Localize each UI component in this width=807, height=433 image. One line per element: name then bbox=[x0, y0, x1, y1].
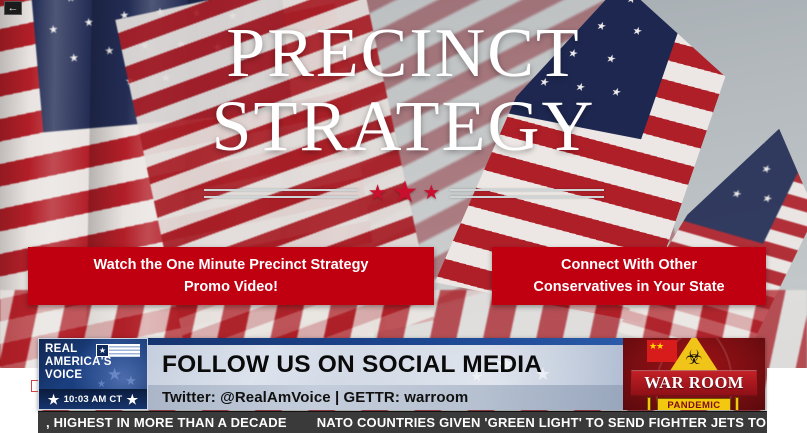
page-title: PRECINCT STRATEGY bbox=[0, 18, 807, 162]
watch-promo-video-button[interactable]: Watch the One Minute Precinct Strategy P… bbox=[28, 247, 434, 305]
badge-tick-right bbox=[735, 397, 739, 410]
cta-left-line-1: Watch the One Minute Precinct Strategy bbox=[93, 254, 368, 276]
badge-tick-left bbox=[647, 397, 651, 410]
ticker-item: NATO COUNTRIES GIVEN 'GREEN LIGHT' TO SE… bbox=[317, 415, 767, 430]
lower-third-banner: ★ ★ ★ REAL AMERICA'S VOICE ★ ★ 10:03 AM … bbox=[38, 338, 765, 410]
network-logo-top: ★ ★ ★ REAL AMERICA'S VOICE ★ bbox=[39, 339, 147, 389]
clock-bar: ★ 10:03 AM CT ★ bbox=[39, 389, 147, 409]
star-icon: ★ bbox=[391, 178, 418, 208]
star-icon: ★ bbox=[48, 393, 60, 406]
war-room-title: WAR ROOM bbox=[644, 373, 744, 393]
war-room-title-band: WAR ROOM bbox=[631, 370, 758, 396]
page-left-margin bbox=[0, 368, 38, 433]
headline-row: ★ ★ ★ FOLLOW US ON SOCIAL MEDIA bbox=[148, 345, 623, 385]
screenshot-root: ★ ★ ★ ★ ★ ★ ★ ★ ★ ★ ★ ★ ★ ★ ★ ★ ★ ★ ★ ★ bbox=[0, 0, 807, 433]
ghost-star-icon: ★ bbox=[125, 371, 137, 389]
war-room-pandemic-logo: ★★ ☣ WAR ROOM PANDEMIC bbox=[623, 338, 765, 410]
red-tab-marker bbox=[31, 380, 38, 392]
star-divider: ★ ★ ★ bbox=[204, 176, 604, 210]
social-handles-text: Twitter: @RealAmVoice | GETTR: warroom bbox=[162, 389, 468, 406]
cta-right-line-1: Connect With Other bbox=[561, 254, 697, 276]
divider-rule-right bbox=[450, 188, 604, 199]
star-icon: ★ bbox=[368, 182, 388, 204]
star-icon: ★ bbox=[422, 183, 440, 203]
headline-text: FOLLOW US ON SOCIAL MEDIA bbox=[162, 351, 542, 379]
flag-stripes bbox=[109, 344, 140, 357]
connect-with-conservatives-button[interactable]: Connect With Other Conservatives in Your… bbox=[492, 247, 766, 305]
lower-third-top-accent-bar bbox=[148, 338, 623, 345]
title-line-2: STRATEGY bbox=[0, 90, 807, 162]
subline-row: Twitter: @RealAmVoice | GETTR: warroom bbox=[148, 385, 623, 410]
pandemic-badge: PANDEMIC bbox=[657, 398, 731, 410]
clock-time: 10:03 AM CT bbox=[64, 394, 123, 405]
star-icon: ★ bbox=[126, 393, 138, 406]
news-ticker: , HIGHEST IN MORE THAN A DECADE NATO COU… bbox=[38, 411, 767, 433]
lower-third-text-panel: ★ ★ ★ FOLLOW US ON SOCIAL MEDIA Twitter:… bbox=[148, 338, 623, 410]
flag-canton-star-icon: ★ bbox=[96, 344, 109, 357]
brand-line-3: VOICE bbox=[45, 369, 112, 382]
divider-rule-left bbox=[204, 188, 358, 199]
page-right-margin bbox=[767, 368, 807, 433]
ticker-item: , HIGHEST IN MORE THAN A DECADE bbox=[46, 415, 287, 430]
cta-right-line-2: Conservatives in Your State bbox=[533, 276, 724, 298]
us-flag-icon: ★ bbox=[96, 344, 140, 357]
pandemic-badge-text: PANDEMIC bbox=[667, 400, 720, 410]
back-arrow-icon[interactable]: ← bbox=[4, 1, 22, 15]
network-logo: ★ ★ ★ REAL AMERICA'S VOICE ★ ★ 10:03 AM … bbox=[38, 338, 148, 410]
cta-left-line-2: Promo Video! bbox=[184, 276, 278, 298]
title-line-1: PRECINCT bbox=[0, 18, 807, 90]
biohazard-icon: ☣ bbox=[685, 348, 703, 368]
divider-stars: ★ ★ ★ bbox=[358, 178, 451, 208]
brand-line-2: AMERICA'S bbox=[45, 356, 112, 369]
